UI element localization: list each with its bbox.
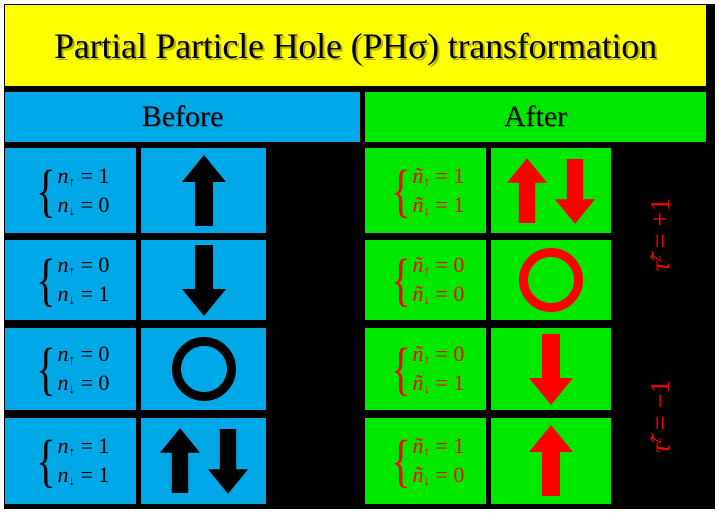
before-occupancy-row-1: { n↑ = 1 n↓ = 0 [5,148,136,233]
spin-down-arrow-icon: ↓ [68,202,75,217]
spin-up-arrow-icon: ↑ [423,444,430,459]
up-down-arrow-pair-icon [506,154,596,228]
n-tilde-down-value: 1 [453,192,464,217]
n-down-symbol: n [57,462,68,487]
occupancy-line-down: ñ↓ = 1 [412,370,464,397]
spin-down-arrow-icon: ↓ [423,473,430,488]
header-before: Before [5,92,360,142]
occupancy-lines: n↑ = 1 n↓ = 0 [57,163,109,219]
equals-sign: = [435,252,447,277]
before-tau-group-1: τz = −1 [271,148,360,320]
title-bar: Partial Particle Hole (PHσ) transformati… [5,5,706,86]
brace-left: { [391,167,410,215]
n-up-symbol: n [57,163,68,188]
equals-sign: = [435,341,447,366]
brace-left: { [36,345,55,393]
occupancy-line-down: ñ↓ = 0 [412,281,464,308]
tau-superscript: z [648,255,665,261]
occupancy-line-down: n↓ = 1 [57,462,109,489]
spin-down-arrow-icon: ↓ [68,292,75,307]
n-tilde-down-symbol: ñ [412,281,423,306]
before-occupancy-row-4: { n↑ = 1 n↓ = 1 [5,418,136,504]
brace-left: { [391,256,410,304]
n-tilde-down-symbol: ñ [412,370,423,395]
occupancy-lines: ñ↑ = 1 ñ↓ = 1 [412,163,464,219]
equals-sign: = [435,462,447,487]
before-state-row-3 [141,328,266,410]
n-down-value: 0 [98,192,109,217]
spin-up-arrow-icon: ↑ [68,174,75,189]
n-down-symbol: n [57,281,68,306]
before-tau-value-2: τz = +1 [302,379,329,452]
occupancy-group: { ñ↑ = 1 ñ↓ = 1 [387,163,465,219]
tau-symbol: τ [300,443,330,453]
up-arrow-icon [181,154,227,228]
n-up-value: 0 [98,341,109,366]
occupancy-line-down: ñ↓ = 1 [412,192,464,219]
after-occupancy-row-4: { ñ↑ = 1 ñ↓ = 0 [365,418,486,504]
occupancy-group: { ñ↑ = 0 ñ↓ = 0 [387,252,465,308]
occupancy-group: { n↑ = 0 n↓ = 0 [32,341,110,397]
equals-sign: = [435,281,447,306]
n-tilde-up-symbol: ñ [412,433,423,458]
spin-down-arrow-icon: ↓ [68,381,75,396]
after-occupancy-row-2: { ñ↑ = 0 ñ↓ = 0 [365,240,486,320]
header-after: After [365,92,706,142]
empty-circle-icon [172,337,236,401]
tau-tilde-symbol: τ̃ [646,261,676,271]
equals-sign: = [435,433,447,458]
equals-sign: = [435,163,447,188]
brace-left: { [36,256,55,304]
n-down-value: 0 [98,370,109,395]
occupancy-lines: n↑ = 0 n↓ = 0 [57,341,109,397]
n-down-symbol: n [57,192,68,217]
up-arrow-icon [506,154,548,228]
brace-left: { [36,167,55,215]
occupancy-group: { n↑ = 1 n↓ = 1 [32,433,110,489]
occupancy-lines: ñ↑ = 1 ñ↓ = 0 [412,433,464,489]
before-state-row-4 [141,418,266,504]
tau-superscript: z [302,255,319,261]
empty-circle-icon [519,248,583,312]
tau-tilde-symbol: τ̃ [646,443,676,453]
page-title: Partial Particle Hole (PHσ) transformati… [54,28,657,64]
equals-sign: = [300,415,330,430]
spin-down-arrow-icon: ↓ [423,202,430,217]
occupancy-line-up: n↑ = 0 [57,341,109,368]
before-state-row-1 [141,148,266,233]
occupancy-lines: ñ↑ = 0 ñ↓ = 0 [412,252,464,308]
n-tilde-up-symbol: ñ [412,163,423,188]
spin-down-arrow-icon: ↓ [423,381,430,396]
equals-sign: = [646,415,676,430]
occupancy-line-down: n↓ = 1 [57,281,109,308]
equals-sign: = [435,192,447,217]
equals-sign: = [80,252,92,277]
after-state-row-4 [491,418,611,504]
down-arrow-icon [554,154,596,228]
after-state-row-3 [491,328,611,410]
spin-down-arrow-icon: ↓ [423,292,430,307]
before-tau-group-2: τz = +1 [271,328,360,504]
occupancy-group: { n↑ = 1 n↓ = 0 [32,163,110,219]
equals-sign: = [300,233,330,248]
n-tilde-up-value: 1 [453,163,464,188]
occupancy-line-up: n↑ = 1 [57,163,109,190]
equals-sign: = [80,163,92,188]
n-tilde-down-value: 1 [453,370,464,395]
occupancy-lines: ñ↑ = 0 ñ↓ = 1 [412,341,464,397]
up-down-arrow-pair-icon [159,424,249,498]
after-occupancy-row-1: { ñ↑ = 1 ñ↓ = 1 [365,148,486,233]
before-occupancy-row-2: { n↑ = 0 n↓ = 1 [5,240,136,320]
n-tilde-down-value: 0 [453,281,464,306]
n-up-value: 0 [98,252,109,277]
occupancy-line-up: ñ↑ = 0 [412,341,464,368]
n-tilde-down-symbol: ñ [412,192,423,217]
equals-sign: = [646,233,676,248]
tau-superscript: z [302,437,319,443]
up-arrow-icon [528,424,574,498]
after-state-row-1 [491,148,611,233]
up-arrow-icon [159,424,201,498]
equals-sign: = [435,370,447,395]
equals-sign: = [80,281,92,306]
header-after-label: After [504,102,567,132]
occupancy-line-down: n↓ = 0 [57,370,109,397]
occupancy-lines: n↑ = 1 n↓ = 1 [57,433,109,489]
spin-up-arrow-icon: ↑ [423,174,430,189]
spin-up-arrow-icon: ↑ [423,263,430,278]
tau-value: +1 [646,197,676,226]
after-state-row-2 [491,240,611,320]
occupancy-line-up: ñ↑ = 0 [412,252,464,279]
brace-left: { [36,437,55,485]
n-up-value: 1 [98,433,109,458]
n-up-symbol: n [57,433,68,458]
occupancy-group: { n↑ = 0 n↓ = 1 [32,252,110,308]
before-state-row-2 [141,240,266,320]
n-down-value: 1 [98,462,109,487]
equals-sign: = [80,462,92,487]
occupancy-line-up: n↑ = 0 [57,252,109,279]
n-tilde-down-symbol: ñ [412,462,423,487]
occupancy-group: { ñ↑ = 0 ñ↓ = 1 [387,341,465,397]
after-tau-group-1: τ̃z = +1 [616,148,706,320]
n-tilde-down-value: 0 [453,462,464,487]
brace-left: { [391,437,410,485]
equals-sign: = [80,370,92,395]
occupancy-line-down: n↓ = 0 [57,192,109,219]
down-arrow-icon [181,243,227,317]
equals-sign: = [80,192,92,217]
n-tilde-up-value: 1 [453,433,464,458]
equals-sign: = [80,433,92,458]
tau-superscript: z [648,437,665,443]
occupancy-lines: n↑ = 0 n↓ = 1 [57,252,109,308]
tau-symbol: τ [300,261,330,271]
spin-down-arrow-icon: ↓ [68,473,75,488]
n-up-symbol: n [57,341,68,366]
spin-up-arrow-icon: ↑ [68,263,75,278]
occupancy-line-up: n↑ = 1 [57,433,109,460]
n-down-symbol: n [57,370,68,395]
after-tau-group-2: τ̃z = −1 [616,328,706,504]
n-tilde-up-symbol: ñ [412,341,423,366]
figure-root: Partial Particle Hole (PHσ) transformati… [0,0,719,513]
occupancy-line-up: ñ↑ = 1 [412,433,464,460]
brace-left: { [391,345,410,393]
spin-up-arrow-icon: ↑ [423,352,430,367]
n-tilde-up-value: 0 [453,252,464,277]
after-tau-value-1: τ̃z = +1 [648,197,675,270]
header-before-label: Before [142,102,224,132]
spin-up-arrow-icon: ↑ [68,444,75,459]
occupancy-line-up: ñ↑ = 1 [412,163,464,190]
tau-value: −1 [300,197,330,226]
equals-sign: = [80,341,92,366]
down-arrow-icon [528,332,574,406]
n-down-value: 1 [98,281,109,306]
occupancy-line-down: ñ↓ = 0 [412,462,464,489]
spin-up-arrow-icon: ↑ [68,352,75,367]
n-up-value: 1 [98,163,109,188]
before-occupancy-row-3: { n↑ = 0 n↓ = 0 [5,328,136,410]
n-up-symbol: n [57,252,68,277]
down-arrow-icon [207,424,249,498]
n-tilde-up-value: 0 [453,341,464,366]
tau-value: +1 [300,379,330,408]
n-tilde-up-symbol: ñ [412,252,423,277]
after-tau-value-2: τ̃z = −1 [648,379,675,452]
before-tau-value-1: τz = −1 [302,197,329,270]
after-occupancy-row-3: { ñ↑ = 0 ñ↓ = 1 [365,328,486,410]
occupancy-group: { ñ↑ = 1 ñ↓ = 0 [387,433,465,489]
tau-value: −1 [646,379,676,408]
